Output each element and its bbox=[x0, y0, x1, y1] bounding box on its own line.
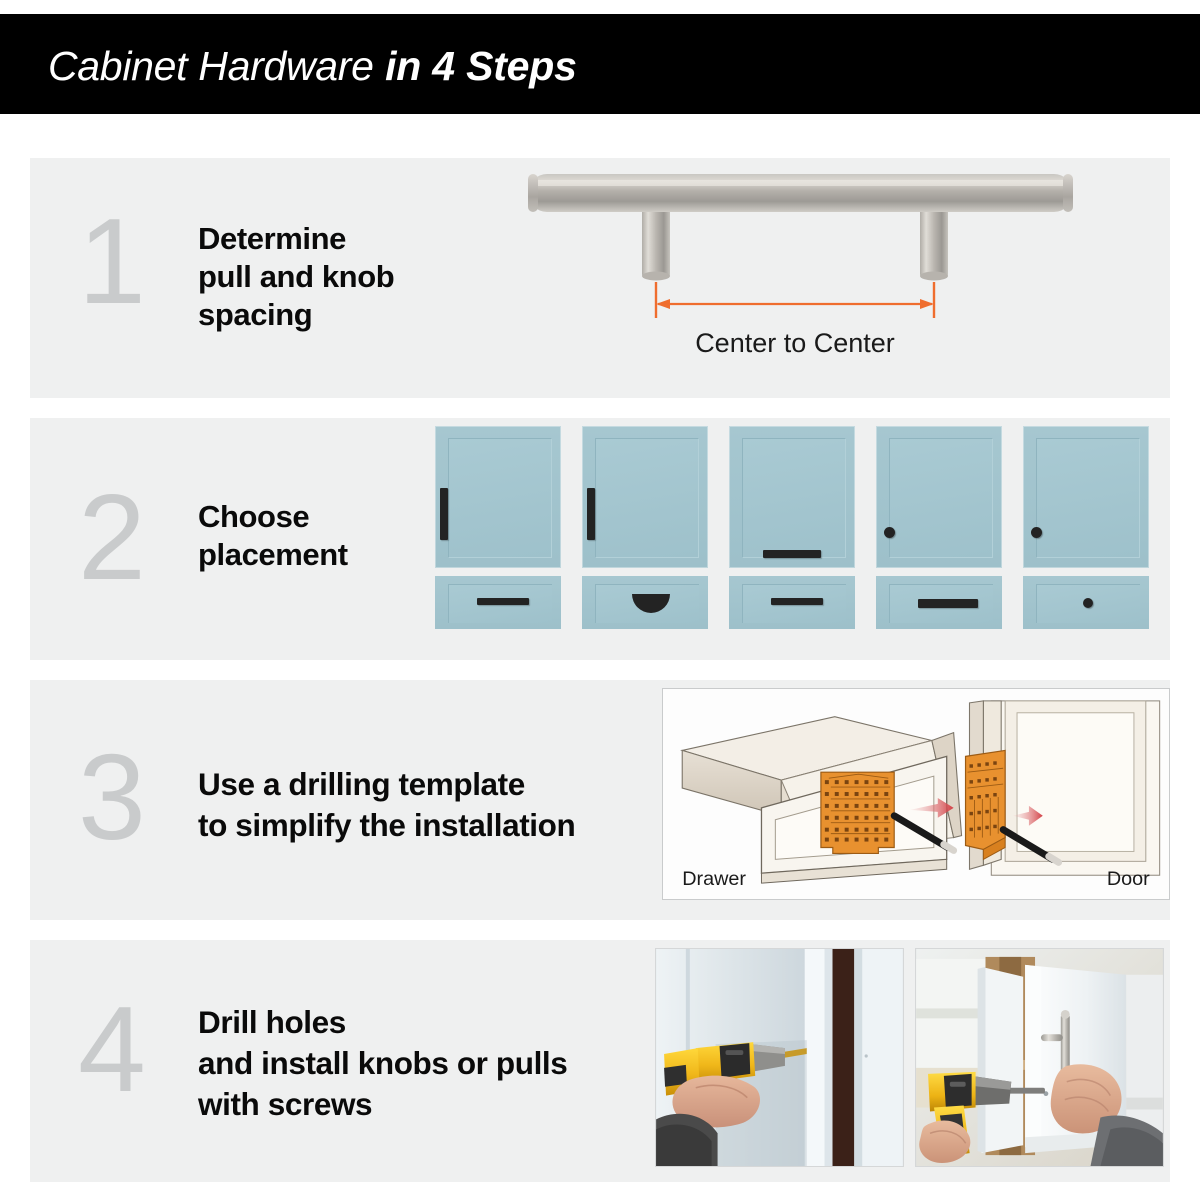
cabinet-drawer bbox=[435, 576, 561, 629]
step-number-3: 3 bbox=[78, 736, 146, 858]
vertical-pull-icon bbox=[440, 488, 448, 540]
door-label: Door bbox=[1107, 868, 1150, 890]
door-drilling-template bbox=[966, 750, 1006, 859]
photo-installing-bar-pull bbox=[915, 948, 1164, 1167]
cabinet-variant-1 bbox=[435, 426, 561, 629]
step-2-line-1: Choose bbox=[198, 498, 348, 536]
step-title-4: Drill holes and install knobs or pulls w… bbox=[198, 1002, 567, 1125]
dimension-annotation bbox=[656, 282, 934, 318]
cabinet-drawer bbox=[1023, 576, 1149, 629]
step-title-1: Determine pull and knob spacing bbox=[198, 220, 394, 334]
horizontal-pull-icon bbox=[763, 550, 821, 558]
cabinet-drawer bbox=[582, 576, 708, 629]
cabinet-variant-2 bbox=[582, 426, 708, 629]
photo-1-svg bbox=[656, 949, 903, 1166]
drawer-drilling-template bbox=[821, 772, 894, 853]
pull-post-left bbox=[642, 200, 670, 281]
step-4-line-3: with screws bbox=[198, 1084, 567, 1125]
photo-2-svg bbox=[916, 949, 1163, 1166]
cabinet-drawer bbox=[729, 576, 855, 629]
page-title: Cabinet Hardware in 4 Steps bbox=[48, 44, 577, 88]
page-title-bold: in 4 Steps bbox=[385, 43, 577, 89]
step-3-line-2: to simplify the installation bbox=[198, 805, 575, 846]
bar-pull-illustration: Center to Center bbox=[500, 158, 1100, 398]
dimension-label: Center to Center bbox=[695, 328, 895, 358]
cabinet-door bbox=[729, 426, 855, 568]
cabinet-variant-3 bbox=[729, 426, 855, 629]
cabinet-door bbox=[876, 426, 1002, 568]
cabinet-door bbox=[582, 426, 708, 568]
knob-icon bbox=[1083, 598, 1093, 608]
horizontal-pull-icon bbox=[918, 599, 978, 608]
pull-post-right bbox=[920, 200, 948, 281]
step-number-4: 4 bbox=[78, 988, 146, 1110]
knob-icon bbox=[1031, 527, 1042, 538]
step-4-line-1: Drill holes bbox=[198, 1002, 567, 1043]
step-card-1: 1 Determine pull and knob spacing bbox=[30, 158, 1170, 398]
step-card-2: 2 Choose placement bbox=[30, 418, 1170, 660]
page-title-light: Cabinet Hardware bbox=[48, 43, 374, 89]
cabinet-variants-row bbox=[435, 426, 1170, 652]
step-2-line-2: placement bbox=[198, 536, 348, 574]
step-4-line-2: and install knobs or pulls bbox=[198, 1043, 567, 1084]
knob-icon bbox=[884, 527, 895, 538]
step-1-line-2: pull and knob bbox=[198, 258, 394, 296]
step-card-4: 4 Drill holes and install knobs or pulls… bbox=[30, 940, 1170, 1182]
cabinet-drawer bbox=[876, 576, 1002, 629]
step-1-line-3: spacing bbox=[198, 296, 394, 334]
step-number-1: 1 bbox=[78, 200, 146, 322]
step-3-line-1: Use a drilling template bbox=[198, 764, 575, 805]
step-number-2: 2 bbox=[78, 476, 146, 598]
step-1-line-1: Determine bbox=[198, 220, 394, 258]
photo-drill-boring-hole bbox=[655, 948, 904, 1167]
template-diagram-svg: Drawer bbox=[663, 689, 1169, 899]
horizontal-pull-icon bbox=[771, 598, 823, 605]
cup-pull-icon bbox=[632, 594, 670, 613]
cabinet-variant-4 bbox=[876, 426, 1002, 629]
cabinet-door bbox=[1023, 426, 1149, 568]
pull-bar bbox=[528, 174, 1073, 212]
cabinet-door bbox=[435, 426, 561, 568]
cabinet-variant-5 bbox=[1023, 426, 1149, 629]
step-title-2: Choose placement bbox=[198, 498, 348, 574]
drilling-template-illustration: Drawer bbox=[662, 688, 1170, 900]
installation-photo-row bbox=[655, 948, 1164, 1167]
step-title-3: Use a drilling template to simplify the … bbox=[198, 764, 575, 846]
step-card-3: 3 Use a drilling template to simplify th… bbox=[30, 680, 1170, 920]
horizontal-pull-icon bbox=[477, 598, 529, 605]
drawer-label: Drawer bbox=[682, 868, 746, 890]
vertical-pull-icon bbox=[587, 488, 595, 540]
